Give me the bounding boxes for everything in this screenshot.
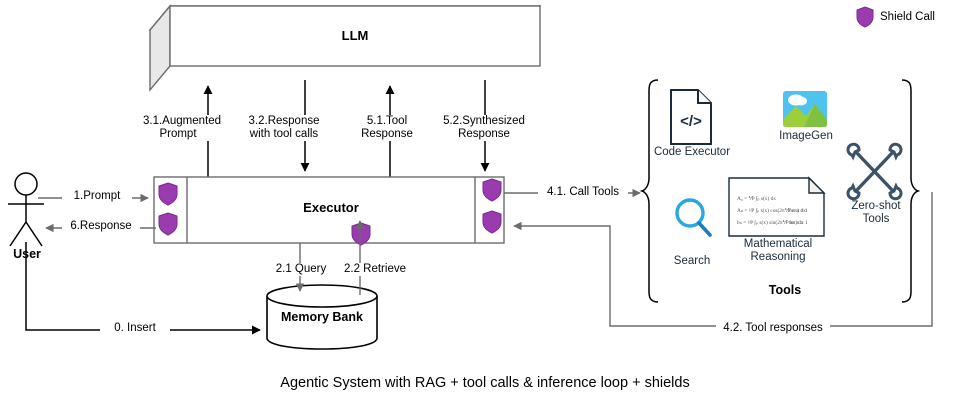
edge-4-2-tool-responses [500, 186, 940, 336]
image-icon [782, 90, 828, 128]
executor-node[interactable]: Executor [152, 175, 506, 245]
edge-5-1-label: 5.1.Tool Response [352, 115, 422, 141]
tool-code-executor-label: Code Executor [650, 146, 734, 159]
legend-label: Shield Call [880, 11, 935, 24]
diagram-canvas: LLM 3.1.Augmented Prompt 3.2.Response wi… [0, 0, 970, 411]
edge-3-2-label: 3.2.Response with tool calls [239, 115, 329, 141]
edge-4-2-label: 4.2. Tool responses [716, 322, 830, 335]
edge-3-1-label: 3.1.Augmented Prompt [143, 115, 213, 141]
legend: Shield Call [856, 6, 935, 28]
executor-label: Executor [187, 200, 475, 215]
edge-2-2-label: 2.2 Retrieve [335, 263, 415, 276]
edge-6-label: 6.Response [62, 220, 140, 233]
tool-imagegen[interactable] [782, 90, 828, 128]
tool-imagegen-label: ImageGen [768, 130, 844, 143]
code-document-icon: </> [668, 88, 714, 146]
shield-icon [482, 178, 502, 202]
edge-0-label: 0. Insert [100, 322, 170, 335]
diagram-caption: Agentic System with RAG + tool calls & i… [0, 375, 970, 391]
svg-text:</>: </> [680, 113, 702, 130]
shield-icon [158, 212, 178, 236]
edge-2-1-label: 2.1 Query [268, 263, 334, 276]
shield-icon [856, 6, 874, 28]
edge-1-label: 1.Prompt [62, 190, 132, 203]
tool-code-executor[interactable]: </> [668, 88, 714, 146]
edge-5-2-label: 5.2.Synthesized Response [434, 115, 534, 141]
shield-icon [482, 210, 502, 234]
memory-bank-label: Memory Bank [264, 311, 380, 324]
shield-icon [158, 182, 178, 206]
user-node[interactable]: User [4, 170, 56, 250]
user-head [15, 173, 37, 195]
llm-label: LLM [170, 28, 540, 43]
